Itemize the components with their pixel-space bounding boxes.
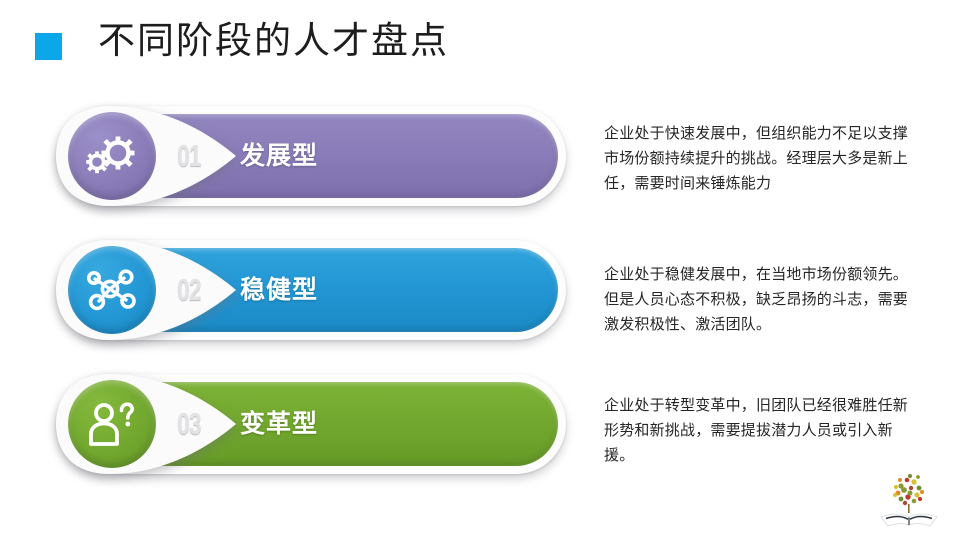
stage-number: 03 [169, 405, 209, 443]
stage-badge [68, 112, 156, 200]
stage-description-1: 企业处于快速发展中，但组织能力不足以支撑市场份额持续提升的挑战。经理层大多是新上… [604, 121, 914, 196]
stage-row-2[interactable]: 02 稳健型 [56, 240, 566, 340]
stage-row-1[interactable]: 01 发展型 [56, 106, 566, 206]
stage-description-2: 企业处于稳健发展中，在当地市场份额领先。但是人员心态不积极，缺乏昂扬的斗志，需要… [604, 262, 914, 337]
tree-book-logo [874, 468, 946, 530]
stage-description-3: 企业处于转型变革中，旧团队已经很难胜任新形势和新挑战，需要提拔潜力人员或引入新援… [604, 393, 914, 468]
stage-badge [68, 246, 156, 334]
slide-canvas: 不同阶段的人才盘点 [0, 0, 956, 534]
page-title: 不同阶段的人才盘点 [98, 13, 449, 69]
stage-label: 变革型 [240, 402, 318, 446]
stage-row-3[interactable]: 03 变革型 [56, 374, 566, 474]
gears-icon [85, 134, 139, 178]
stage-number: 01 [169, 137, 209, 175]
stage-label: 稳健型 [240, 268, 318, 312]
stage-badge [68, 380, 156, 468]
stage-number: 02 [169, 271, 209, 309]
person-question-icon [87, 401, 137, 447]
slide-header: 不同阶段的人才盘点 [0, 0, 956, 92]
title-bullet-square [35, 33, 62, 60]
stage-label: 发展型 [240, 134, 318, 178]
network-nodes-icon [86, 268, 138, 312]
